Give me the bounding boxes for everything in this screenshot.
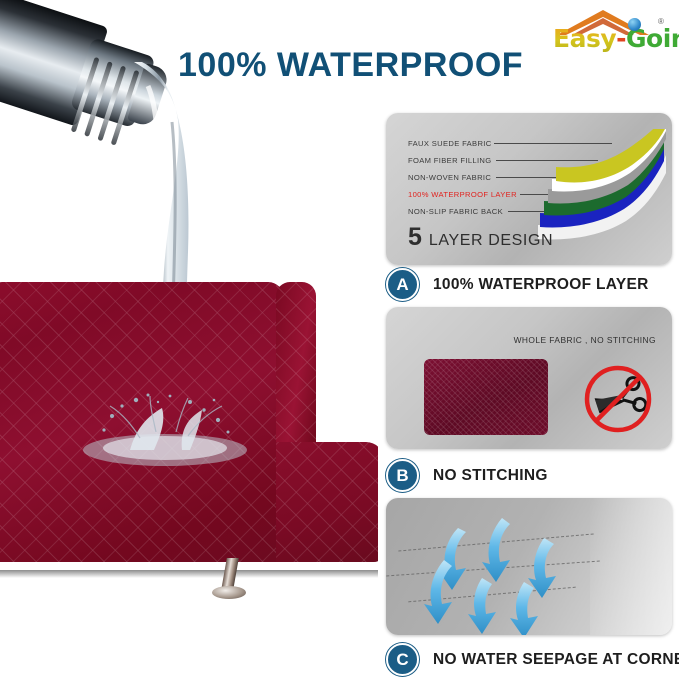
feature-column: FAUX SUEDE FABRIC FOAM FIBER FILLING NON… [378,0,679,677]
layer-stack-illustration [536,129,668,247]
product-photo [0,0,378,677]
layer-design-text: LAYER DESIGN [429,233,553,249]
badge-c: C [386,643,419,676]
sofa-seat [276,442,378,562]
feature-row-c: C NO WATER SEEPAGE AT CORNER [386,643,679,676]
layer-label: NON-WOVEN FABRIC [408,173,491,182]
layer-label: NON-SLIP FABRIC BACK [408,207,503,216]
panel-no-stitching: WHOLE FABRIC , NO STITCHING [386,307,672,449]
badge-a: A [386,268,419,301]
layer-label: 100% WATERPROOF LAYER [408,190,517,199]
feature-row-b: B NO STITCHING [386,459,548,492]
infographic-canvas: 100% WATERPROOF Easy-Going ® FAUX SUEDE … [0,0,679,677]
whole-fabric-caption: WHOLE FABRIC , NO STITCHING [514,335,656,345]
layer-count: 5 [408,225,422,250]
layer-label: FAUX SUEDE FABRIC [408,139,492,148]
feature-label-a: 100% WATERPROOF LAYER [433,276,649,294]
sofa-leg [210,558,256,602]
five-layer-design-label: 5 LAYER DESIGN [408,225,553,250]
feature-label-b: NO STITCHING [433,467,548,485]
water-flow-arrows-icon [386,498,672,635]
sofa-arm [276,282,316,466]
water-splash [70,392,260,472]
fabric-swatch [424,359,548,435]
panel-no-seepage [386,498,672,635]
no-scissors-icon [582,363,654,435]
panel-layer-design: FAUX SUEDE FABRIC FOAM FIBER FILLING NON… [386,113,672,265]
layer-label: FOAM FIBER FILLING [408,156,492,165]
feature-row-a: A 100% WATERPROOF LAYER [386,268,649,301]
badge-b: B [386,459,419,492]
feature-label-c: NO WATER SEEPAGE AT CORNER [433,651,679,669]
